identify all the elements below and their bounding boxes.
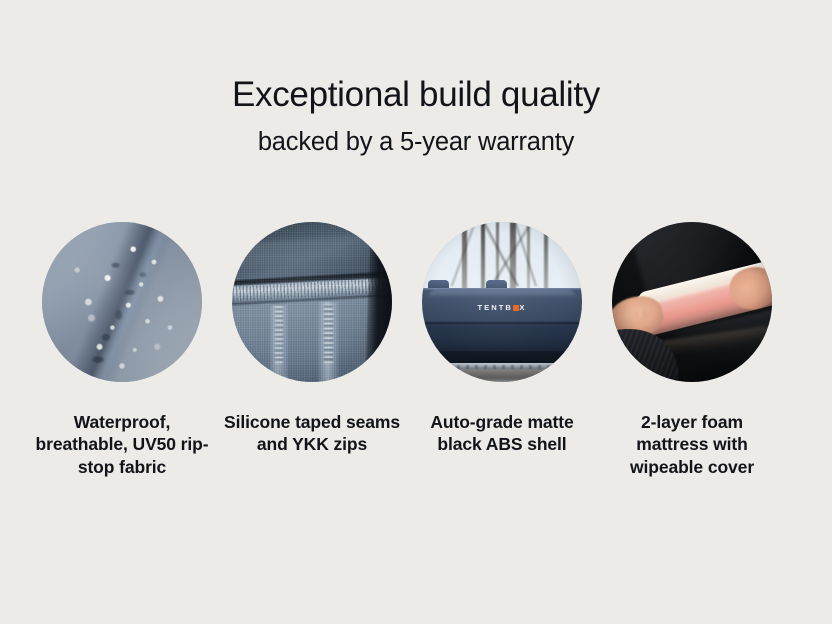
silicone-taped-seam-photo xyxy=(232,222,392,382)
header-block: Exceptional build quality backed by a 5-… xyxy=(0,76,832,156)
foam-mattress-photo xyxy=(612,222,772,382)
feature-item-foam-mattress: 2-layer foam mattress with wipeable cove… xyxy=(612,222,772,478)
feature-item-abs-shell: TENTBX Auto-grade matte black ABS shell xyxy=(422,222,582,456)
feature-item-taped-seams: Silicone taped seams and YKK zips xyxy=(232,222,392,456)
feature-highlight-panel: Exceptional build quality backed by a 5-… xyxy=(0,0,832,624)
waterproof-fabric-water-droplets-photo xyxy=(42,222,202,382)
page-subtitle: backed by a 5-year warranty xyxy=(0,128,832,156)
feature-list: Waterproof, breathable, UV50 rip-stop fa… xyxy=(42,222,790,478)
feature-caption: 2-layer foam mattress with wipeable cove… xyxy=(603,411,781,478)
page-title: Exceptional build quality xyxy=(0,76,832,114)
feature-item-waterproof-fabric: Waterproof, breathable, UV50 rip-stop fa… xyxy=(42,222,202,478)
feature-caption: Silicone taped seams and YKK zips xyxy=(223,411,401,456)
abs-shell-roofbox-photo: TENTBX xyxy=(422,222,582,382)
feature-caption: Waterproof, breathable, UV50 rip-stop fa… xyxy=(33,411,211,478)
feature-caption: Auto-grade matte black ABS shell xyxy=(413,411,591,456)
